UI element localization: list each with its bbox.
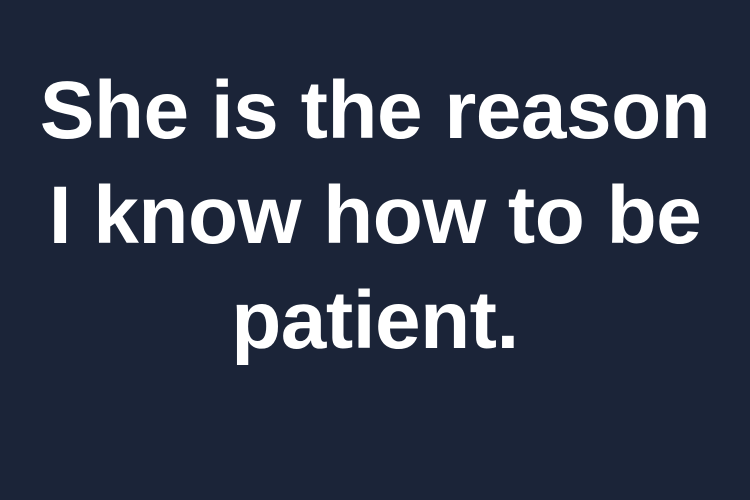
quote-line-2: I know how to be (0, 163, 750, 268)
quote-text-block: She is the reason I know how to be patie… (0, 0, 750, 373)
quote-card: She is the reason I know how to be patie… (0, 0, 750, 500)
quote-line-1: She is the reason (0, 58, 750, 163)
quote-line-3: patient. (0, 268, 750, 373)
